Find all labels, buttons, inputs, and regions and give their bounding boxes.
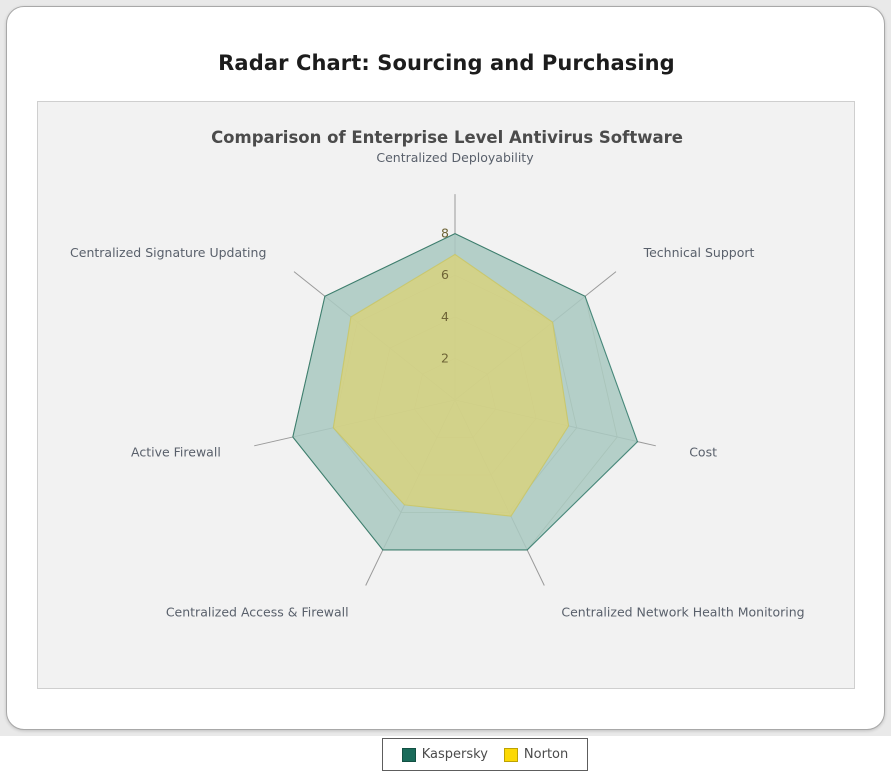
radar-axis-label: Centralized Access & Firewall [166, 605, 349, 620]
chart-legend: Kaspersky Norton [382, 738, 588, 771]
radar-series-areas [293, 234, 638, 550]
radial-tick-label: 4 [441, 309, 449, 324]
radar-axis-label: Centralized Deployability [376, 150, 534, 165]
legend-entry-kaspersky[interactable]: Kaspersky [402, 747, 488, 762]
legend-label-norton: Norton [524, 747, 568, 762]
legend-swatch-kaspersky [402, 748, 416, 762]
radial-tick-label: 6 [441, 267, 449, 282]
radar-axis-label: Centralized Network Health Monitoring [561, 605, 804, 620]
chart-panel: Comparison of Enterprise Level Antivirus… [37, 101, 855, 689]
legend-entry-norton[interactable]: Norton [504, 747, 568, 762]
radar-axis-label: Active Firewall [131, 445, 221, 460]
radial-tick-label: 2 [441, 350, 449, 365]
page-root: Radar Chart: Sourcing and Purchasing Com… [0, 0, 891, 736]
radar-chart-plot: 2468 Centralized DeployabilityTechnical … [38, 102, 856, 690]
outer-card: Radar Chart: Sourcing and Purchasing Com… [6, 6, 885, 730]
legend-label-kaspersky: Kaspersky [422, 747, 488, 762]
radial-tick-label: 8 [441, 226, 449, 241]
radar-axis-label: Cost [689, 445, 717, 460]
radar-axis-label: Centralized Signature Updating [70, 245, 266, 260]
legend-swatch-norton [504, 748, 518, 762]
radar-axis-label: Technical Support [643, 245, 755, 260]
page-title: Radar Chart: Sourcing and Purchasing [7, 51, 886, 75]
